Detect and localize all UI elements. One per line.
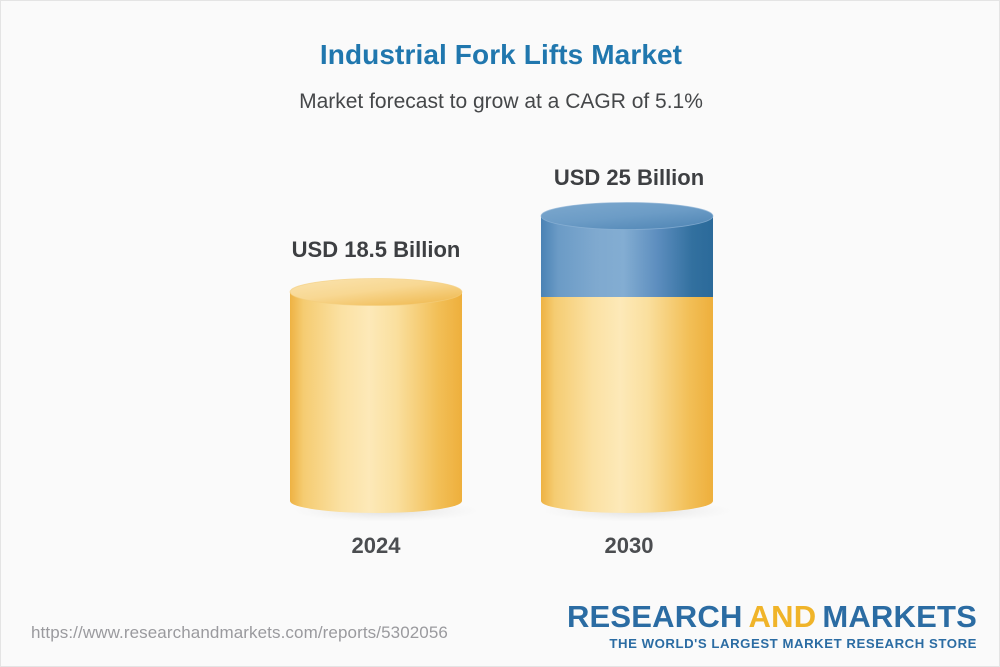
brand-word-markets: MARKETS <box>822 599 977 634</box>
brand-word-research: RESEARCH <box>567 599 743 634</box>
brand-tagline: THE WORLD'S LARGEST MARKET RESEARCH STOR… <box>567 636 977 651</box>
cylinder-2030 <box>533 197 733 523</box>
cylinder-2024 <box>282 273 478 523</box>
category-label-2030: 2030 <box>443 533 815 559</box>
brand-wordmark: RESEARCHANDMARKETS <box>567 601 977 632</box>
brand-logo: RESEARCHANDMARKETS THE WORLD'S LARGEST M… <box>567 601 977 651</box>
value-label-2024: USD 18.5 Billion <box>190 237 562 263</box>
brand-word-and: AND <box>749 599 817 634</box>
source-url[interactable]: https://www.researchandmarkets.com/repor… <box>31 623 448 643</box>
value-label-2030: USD 25 Billion <box>443 165 815 191</box>
plot-area: USD 18.5 Billion <box>1 1 1000 601</box>
chart-canvas: Industrial Fork Lifts Market Market fore… <box>0 0 1000 667</box>
